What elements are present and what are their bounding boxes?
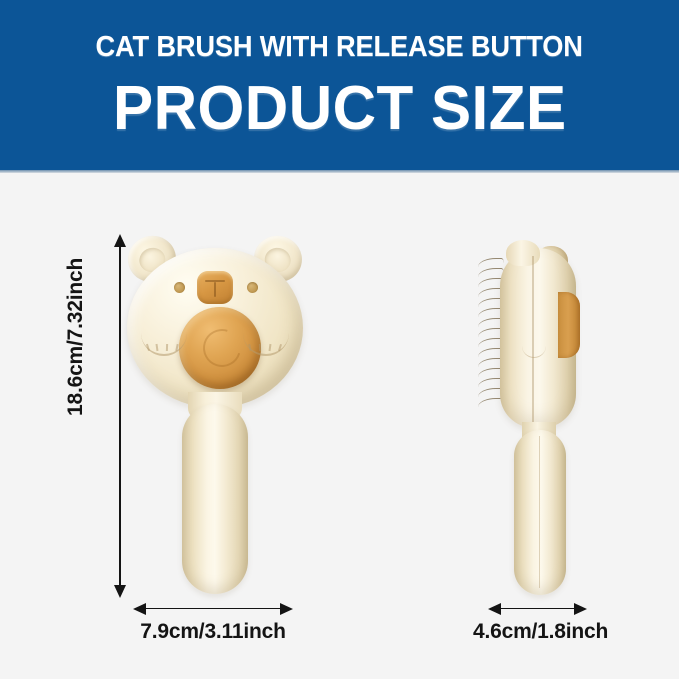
banner-subtitle: CAT BRUSH WITH RELEASE BUTTON — [96, 33, 583, 62]
header-banner-content: CAT BRUSH WITH RELEASE BUTTON PRODUCT SI… — [0, 0, 679, 172]
bear-ear-profile-top — [506, 240, 540, 266]
whisker-tick — [278, 344, 282, 351]
release-button-swirl — [196, 322, 247, 373]
whisker-tick — [248, 344, 251, 351]
dimension-line-front-width — [142, 608, 284, 610]
product-front-view — [122, 232, 308, 594]
dimension-label-front-width: 7.9cm/3.11inch — [133, 620, 293, 644]
bear-eye-left-icon — [174, 282, 185, 293]
header-banner: CAT BRUSH WITH RELEASE BUTTON PRODUCT SI… — [0, 0, 679, 172]
bristle-pin — [478, 268, 504, 277]
bear-nose-icon — [197, 271, 233, 304]
bear-nose-line-vertical — [214, 282, 216, 297]
release-button-side[interactable] — [558, 292, 580, 358]
whisker-tick — [259, 344, 261, 351]
whisker-tick — [146, 344, 150, 351]
front-handle[interactable] — [182, 404, 248, 594]
bear-head — [127, 248, 303, 408]
whisker-tick — [166, 344, 168, 351]
product-size-infographic: CAT BRUSH WITH RELEASE BUTTON PRODUCT SI… — [0, 0, 679, 679]
banner-title: PRODUCT SIZE — [113, 78, 567, 140]
whisker-tick — [175, 344, 178, 351]
bear-eye-right-icon — [247, 282, 258, 293]
dimension-line-side-width — [497, 608, 578, 610]
banner-bottom-edge — [0, 170, 679, 173]
arrow-right-icon — [574, 603, 587, 615]
dimension-arrow-side-width — [488, 601, 587, 616]
dimension-label-height: 18.6cm/7.32inch — [64, 258, 88, 416]
product-side-view — [478, 240, 614, 595]
whisker-tick — [156, 344, 158, 351]
dimension-arrow-front-width — [133, 601, 293, 616]
side-handle-seam — [539, 436, 540, 588]
dimension-line-height — [119, 243, 121, 589]
side-body-seam — [532, 256, 534, 422]
bristle-pin — [478, 258, 504, 267]
dimension-arrow-height — [112, 234, 127, 598]
whisker-tick — [269, 344, 271, 351]
dimension-label-side-width: 4.6cm/1.8inch — [473, 620, 603, 644]
arrow-down-icon — [114, 585, 126, 598]
arrow-right-icon — [280, 603, 293, 615]
